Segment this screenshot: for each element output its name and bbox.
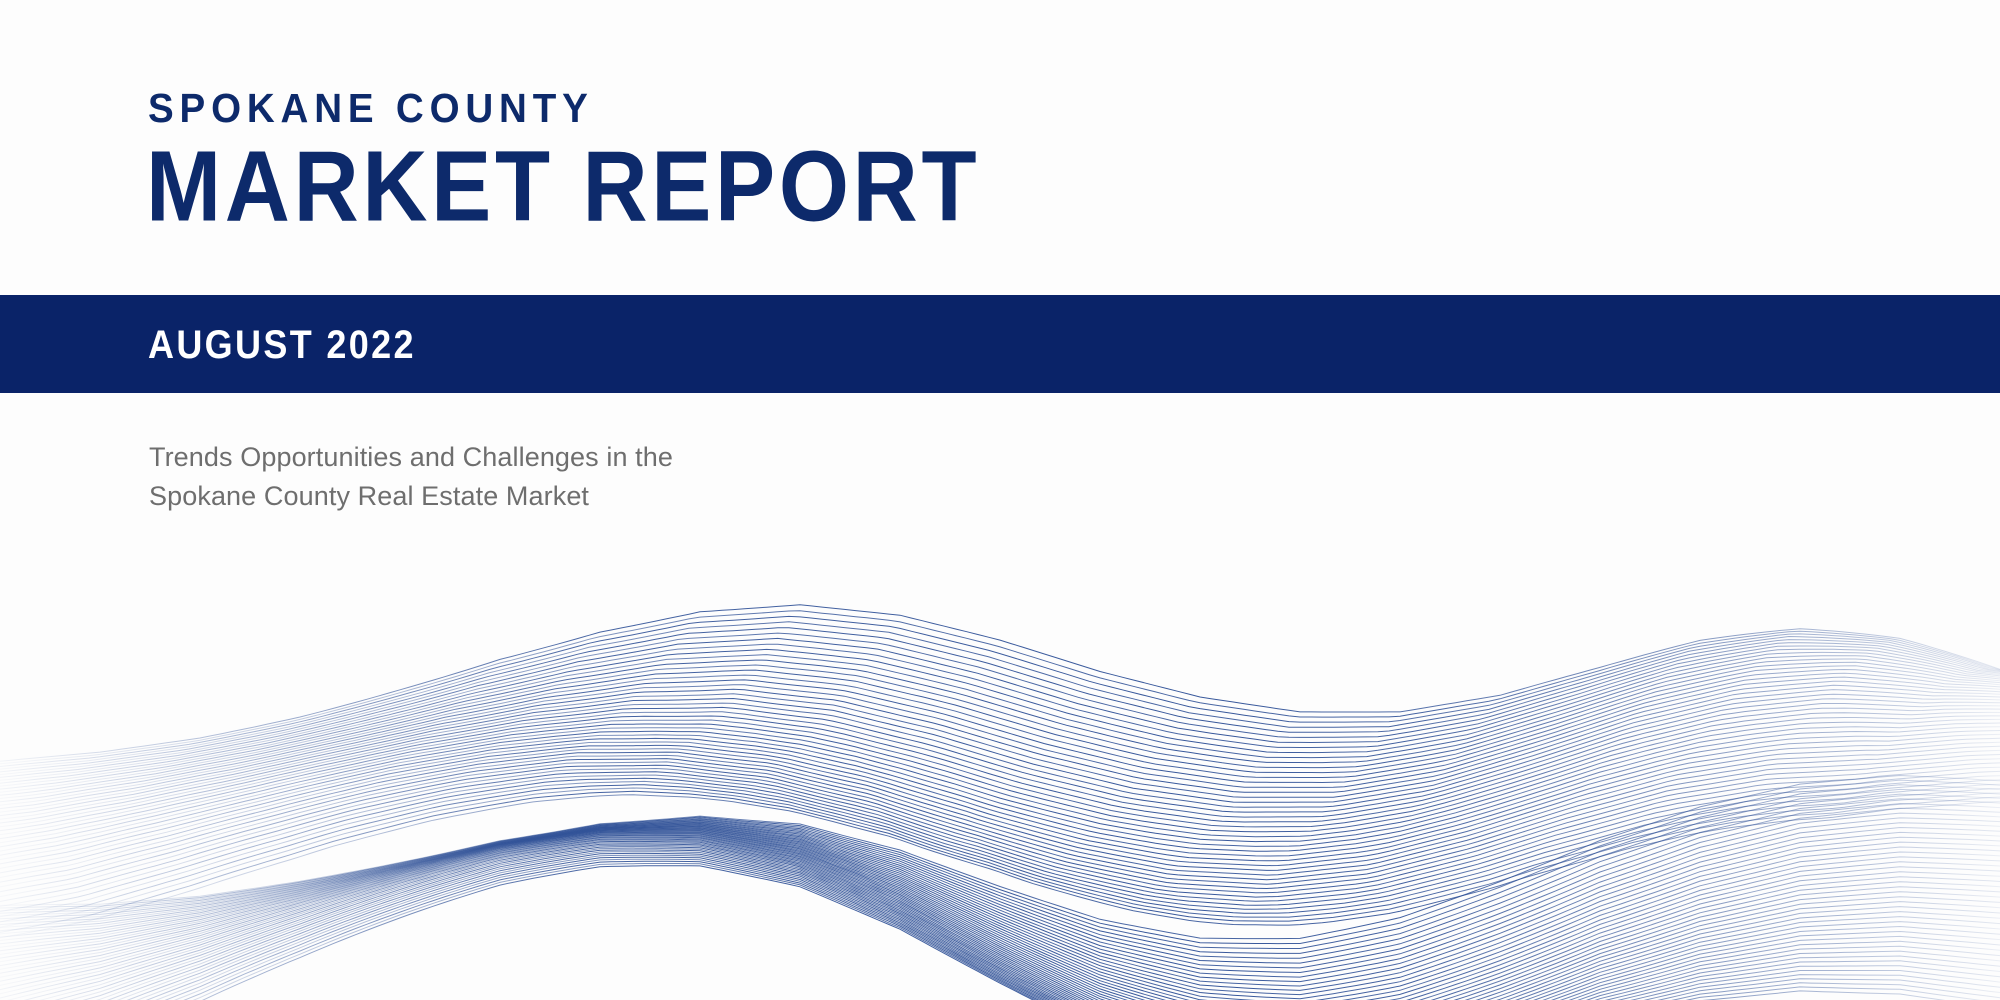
wave-line — [0, 605, 2000, 762]
wave-line — [0, 864, 2000, 1000]
wave-line — [0, 804, 2000, 968]
wave-line — [0, 829, 2000, 1000]
wave-line — [0, 828, 2000, 1000]
wave-line — [0, 755, 2000, 883]
wave-line — [0, 742, 2000, 868]
wave-line — [0, 662, 2000, 792]
wave-line — [0, 844, 2000, 1000]
wave-line — [0, 767, 2000, 896]
wave-line — [0, 823, 2000, 986]
wave-line — [0, 808, 2000, 972]
wave-line — [0, 685, 2000, 812]
wave-line — [0, 843, 2000, 1000]
wave-line — [0, 861, 2000, 1000]
wave-line — [0, 813, 2000, 977]
wave-line — [0, 826, 2000, 995]
wave-line — [0, 836, 2000, 1000]
wave-line — [0, 785, 2000, 922]
wave-line — [0, 719, 2000, 842]
wave-line — [0, 704, 2000, 827]
wave-line — [0, 831, 2000, 1000]
wave-line — [0, 616, 2000, 766]
report-cover-page: SPOKANE COUNTY MARKET REPORT AUGUST 2022… — [0, 0, 2000, 1000]
wave-line — [0, 727, 2000, 851]
wave-line — [0, 694, 2000, 819]
wave-line — [0, 708, 2000, 831]
wave-line — [0, 799, 2000, 963]
wave-line — [0, 778, 2000, 911]
wave-line — [0, 670, 2000, 799]
wave-line — [0, 638, 2000, 777]
wave-line — [0, 746, 2000, 873]
wave-line — [0, 840, 2000, 1000]
wave-line — [0, 794, 2000, 958]
wave-line — [0, 649, 2000, 783]
wave-line — [0, 826, 2000, 998]
wave-line — [0, 855, 2000, 1000]
wave-line — [0, 788, 2000, 927]
wave-line — [0, 776, 2000, 939]
wave-line — [0, 775, 2000, 906]
wave-line — [0, 839, 2000, 1000]
wave-line — [0, 853, 2000, 1000]
wave-line — [0, 763, 2000, 892]
wave-line — [0, 622, 2000, 769]
wave-line — [0, 666, 2000, 796]
wave-line — [0, 828, 2000, 1000]
report-subtitle: Trends Opportunities and Challenges in t… — [149, 438, 673, 516]
report-subtitle-line-1: Trends Opportunities and Challenges in t… — [149, 438, 673, 477]
date-band: AUGUST 2022 — [0, 295, 2000, 393]
wave-line — [0, 830, 2000, 1000]
wave-line — [0, 850, 2000, 1000]
wave-line — [0, 781, 2000, 916]
wave-line — [0, 837, 2000, 1000]
wave-line — [0, 857, 2000, 1000]
wave-line — [0, 611, 2000, 764]
wave-line — [0, 659, 2000, 789]
wave-line — [0, 835, 2000, 1000]
wave-line — [0, 644, 2000, 780]
wave-line — [0, 791, 2000, 932]
wave-line — [0, 633, 2000, 775]
wave-line — [0, 833, 2000, 1000]
wave-line — [0, 738, 2000, 864]
wave-line — [0, 866, 2000, 1000]
wave-line — [0, 848, 2000, 1000]
page-title: MARKET REPORT — [146, 136, 980, 236]
wave-line — [0, 832, 2000, 1000]
wave-line — [0, 838, 2000, 1000]
wave-line — [0, 723, 2000, 847]
wave-line — [0, 731, 2000, 856]
wave-line — [0, 699, 2000, 823]
wave-line — [0, 780, 2000, 944]
wave-line — [0, 831, 2000, 1000]
wave-line — [0, 750, 2000, 877]
wave-line — [0, 759, 2000, 887]
wave-line — [0, 834, 2000, 1000]
wave-line — [0, 841, 2000, 1000]
wave-line — [0, 771, 2000, 901]
wave-line — [0, 818, 2000, 982]
wave-line — [0, 785, 2000, 949]
wave-line — [0, 847, 2000, 1000]
wave-line — [0, 835, 2000, 1000]
wave-line — [0, 789, 2000, 953]
wave-line — [0, 673, 2000, 802]
wave-line — [0, 690, 2000, 816]
report-date-label: AUGUST 2022 — [148, 325, 416, 365]
report-subtitle-line-2: Spokane County Real Estate Market — [149, 477, 673, 516]
wave-line — [0, 859, 2000, 1000]
wave-line — [0, 681, 2000, 808]
wave-line — [0, 825, 2000, 991]
wave-line — [0, 655, 2000, 787]
wave-line — [0, 677, 2000, 805]
wave-line — [0, 712, 2000, 834]
wave-line — [0, 827, 2000, 1000]
wave-line — [0, 795, 2000, 938]
wave-line — [0, 734, 2000, 859]
wave-line — [0, 628, 2000, 772]
wave-line — [0, 852, 2000, 1000]
wave-line — [0, 845, 2000, 1000]
page-eyebrow: SPOKANE COUNTY — [148, 88, 594, 129]
wave-line — [0, 716, 2000, 839]
